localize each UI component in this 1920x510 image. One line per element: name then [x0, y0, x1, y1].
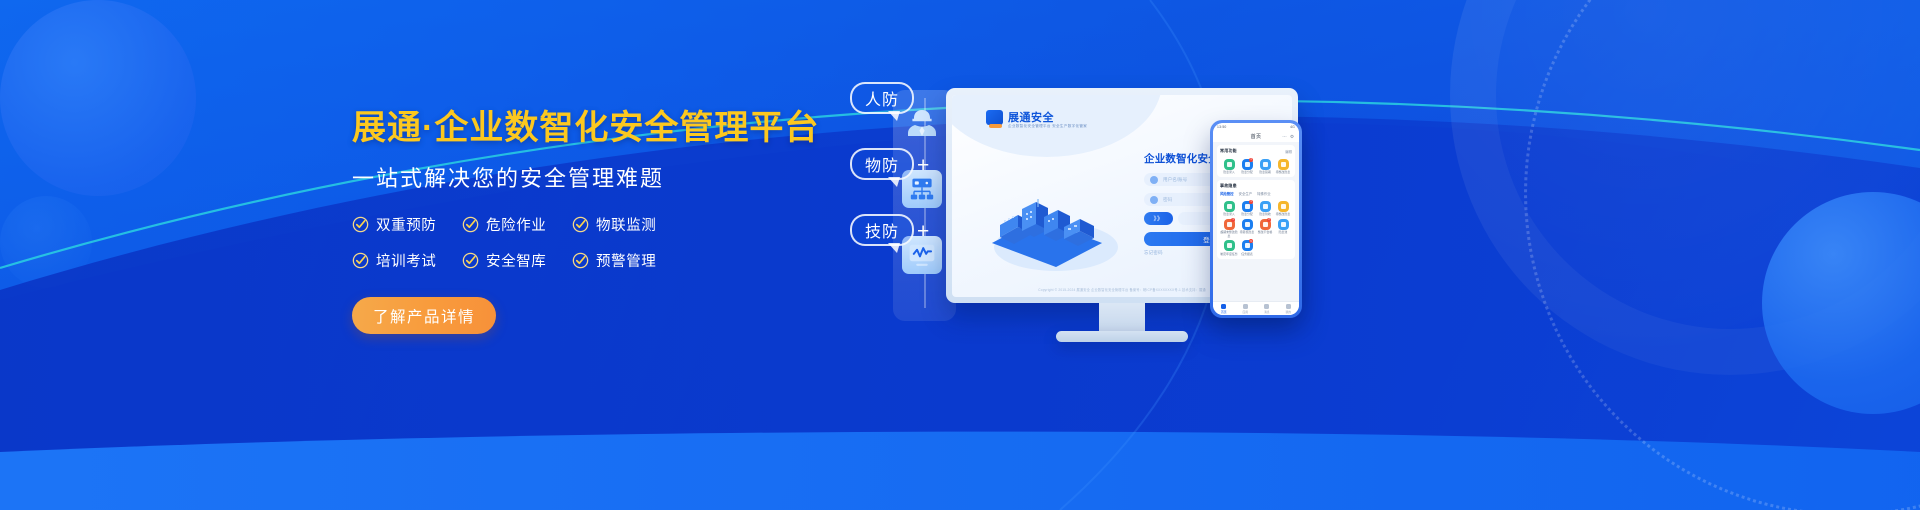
lock-icon — [1150, 196, 1158, 204]
phone-nav-bar: 首页 ⋯ ⚙ — [1213, 131, 1299, 142]
badge-count: 1 — [1249, 200, 1253, 204]
phone-tab-bar: 首页 应用 消息 我的 — [1213, 301, 1299, 315]
feature-list: 双重预防 危险作业 物联监测 培训考试 — [352, 214, 682, 271]
decorative-circle-left — [0, 0, 196, 196]
app-label: 隐患验收 — [1259, 213, 1271, 216]
app-label: 任务报表 — [1241, 253, 1253, 256]
phone-screen: 13:50 4G 首页 ⋯ ⚙ 常用功能 编辑 隐患录入 — [1213, 123, 1299, 315]
password-placeholder: 密码 — [1163, 197, 1172, 203]
defense-label-jifang[interactable]: 技防 — [850, 214, 914, 246]
check-circle-icon — [572, 252, 589, 269]
check-circle-icon — [352, 216, 369, 233]
feature-label: 危险作业 — [486, 214, 546, 235]
app-label: 待整改隐患 — [1276, 171, 1290, 174]
learn-more-button[interactable]: 了解产品详情 — [352, 297, 496, 334]
app-label: 待整改隐患 — [1276, 213, 1290, 216]
app-tile[interactable]: 1 超期未整改隐患 — [1220, 219, 1238, 238]
badge-count: 1 — [1231, 218, 1235, 222]
app-tile[interactable]: 1 隐患分配 — [1238, 201, 1256, 217]
feature-item: 双重预防 — [352, 214, 462, 235]
tabbar-home[interactable]: 首页 — [1221, 304, 1227, 314]
hazard-entry-icon — [1224, 201, 1235, 212]
check-circle-icon — [572, 216, 589, 233]
brand-tagline: 企业数智化安全管理平台 安全生产数字化管家 — [1008, 124, 1087, 129]
user-icon — [1286, 304, 1291, 309]
plus-icon: + — [917, 155, 929, 176]
app-tile[interactable]: 隐患验收 — [1256, 201, 1274, 217]
pending-rectify-icon — [1278, 159, 1289, 170]
badge-count: 1 — [1249, 158, 1253, 162]
check-circle-icon — [352, 252, 369, 269]
city-illustration — [976, 187, 1122, 271]
tab-risk-control[interactable]: 风险管控 — [1220, 191, 1234, 196]
badge-count: 2 — [1267, 218, 1271, 222]
app-label: 制定年度任务 — [1220, 253, 1237, 256]
section-header: 事故隐患 — [1220, 183, 1292, 189]
section-tabs: 风险管控 安全生产 特殊作业 — [1220, 191, 1292, 196]
check-circle-icon — [462, 252, 479, 269]
tab-special-operations[interactable]: 特殊作业 — [1257, 191, 1271, 196]
hazard-accept-icon — [1260, 201, 1271, 212]
app-grid: 隐患录入 1 隐患分配 隐患验收 待整改隐 — [1220, 198, 1292, 256]
app-tile[interactable]: 隐患池 — [1274, 219, 1292, 238]
app-tile[interactable]: 隐患延期 — [1256, 159, 1274, 175]
logo-mark-icon — [986, 110, 1003, 125]
review-hazard-icon — [1242, 219, 1253, 230]
bell-icon — [1264, 304, 1269, 309]
brand-logo: 展通安全 — [986, 109, 1054, 125]
slider-handle-icon[interactable]: 》》 — [1144, 212, 1173, 225]
app-label: 隐患延期 — [1259, 171, 1271, 174]
page-title: 展通·企业数智化安全管理平台 — [352, 108, 822, 148]
banner-copy: 展通·企业数智化安全管理平台 一站式解决您的安全管理难题 双重预防 危险作业 物… — [352, 108, 822, 334]
app-tile[interactable]: 待整改隐患 — [1274, 159, 1292, 175]
app-tile[interactable]: 隐患录入 — [1220, 159, 1238, 175]
section-title: 事故隐患 — [1220, 183, 1237, 189]
app-tile[interactable]: 待整改隐患 — [1274, 201, 1292, 217]
phone-nav-title: 首页 — [1251, 133, 1262, 140]
phone-section-common: 常用功能 编辑 隐患录入 1 隐患分配 — [1217, 145, 1295, 177]
app-tile[interactable]: 隐患录入 — [1220, 201, 1238, 217]
hazard-pool-icon — [1278, 219, 1289, 230]
tabbar-profile[interactable]: 我的 — [1285, 304, 1291, 314]
phone-nav-actions[interactable]: ⋯ ⚙ — [1282, 134, 1295, 140]
annual-task-icon — [1224, 240, 1235, 251]
hazard-entry-icon — [1224, 159, 1235, 170]
section-header: 常用功能 编辑 — [1220, 148, 1292, 154]
tabbar-label: 首页 — [1221, 310, 1227, 314]
plus-icon: + — [917, 221, 929, 242]
status-time: 13:50 — [1217, 125, 1227, 129]
feature-label: 双重预防 — [376, 214, 436, 235]
username-placeholder: 用户名/账号 — [1163, 177, 1187, 183]
page-subtitle: 一站式解决您的安全管理难题 — [352, 161, 822, 193]
hero-banner: 展通·企业数智化安全管理平台 一站式解决您的安全管理难题 双重预防 危险作业 物… — [0, 0, 1920, 510]
feature-item: 危险作业 — [462, 214, 572, 235]
defense-label-wufang[interactable]: 物防 — [850, 148, 914, 180]
app-label: 待复核隐患 — [1240, 231, 1254, 234]
feature-item: 预警管理 — [572, 250, 682, 271]
tabbar-label: 我的 — [1285, 310, 1291, 314]
section-action[interactable]: 编辑 — [1285, 149, 1292, 154]
tabbar-messages[interactable]: 消息 — [1264, 304, 1270, 314]
feature-item: 安全智库 — [462, 250, 572, 271]
feature-label: 安全智库 — [486, 250, 546, 271]
home-icon — [1221, 304, 1226, 309]
device-illustration: 人防 物防 技防 + + 展通安全 企业数智化安全管理平台 安全生产数字化管家 — [880, 58, 1400, 458]
app-label: 隐患池 — [1279, 231, 1288, 234]
status-signal: 4G — [1290, 125, 1295, 129]
check-circle-icon — [462, 216, 479, 233]
pending-rectify-icon — [1278, 201, 1289, 212]
phone-section-hazards: 事故隐患 风险管控 安全生产 特殊作业 隐患录入 1 — [1217, 180, 1295, 259]
grid-icon — [1243, 304, 1248, 309]
app-tile[interactable]: 待复核隐患 — [1238, 219, 1256, 238]
app-tile[interactable]: 9 任务报表 — [1238, 240, 1256, 256]
user-icon — [1150, 176, 1158, 184]
app-tile[interactable]: 制定年度任务 — [1220, 240, 1238, 256]
tabbar-apps[interactable]: 应用 — [1242, 304, 1248, 314]
app-tile[interactable]: 2 整改不合格 — [1256, 219, 1274, 238]
app-label: 隐患分配 — [1241, 171, 1253, 174]
feature-item: 物联监测 — [572, 214, 682, 235]
app-label: 超期未整改隐患 — [1220, 231, 1238, 238]
app-label: 隐患分配 — [1241, 213, 1253, 216]
app-label: 隐患录入 — [1223, 171, 1235, 174]
feature-label: 预警管理 — [596, 250, 656, 271]
app-tile[interactable]: 1 隐患分配 — [1238, 159, 1256, 175]
feature-label: 物联监测 — [596, 214, 656, 235]
app-label: 隐患录入 — [1223, 213, 1235, 216]
brand-name: 展通安全 — [1008, 109, 1054, 125]
section-title: 常用功能 — [1220, 148, 1237, 154]
tabbar-label: 消息 — [1264, 310, 1270, 314]
phone-mockup: 13:50 4G 首页 ⋯ ⚙ 常用功能 编辑 隐患录入 — [1210, 120, 1302, 318]
feature-label: 培训考试 — [376, 250, 436, 271]
app-label: 整改不合格 — [1258, 231, 1272, 234]
defense-label-renfang[interactable]: 人防 — [850, 82, 914, 114]
hazard-delay-icon — [1260, 159, 1271, 170]
phone-status-bar: 13:50 4G — [1213, 123, 1299, 131]
feature-item: 培训考试 — [352, 250, 462, 271]
app-grid: 隐患录入 1 隐患分配 隐患延期 待整改隐 — [1220, 156, 1292, 174]
tabbar-label: 应用 — [1242, 310, 1248, 314]
tab-safety-production[interactable]: 安全生产 — [1239, 191, 1253, 196]
monitor-base — [1056, 331, 1188, 342]
monitor-neck — [1099, 303, 1145, 331]
